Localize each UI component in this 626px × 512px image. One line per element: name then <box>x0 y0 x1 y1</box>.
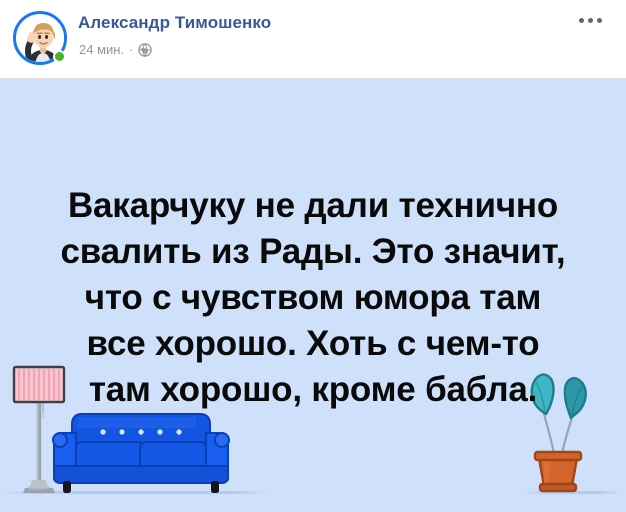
meme-text-line-1: Вакарчуку не дали технично <box>14 183 612 229</box>
post-options-menu-button[interactable] <box>575 14 606 27</box>
three-dots-icon-dot-1 <box>579 18 584 23</box>
meme-text-line-5: там хорошо, кроме бабла. <box>14 367 612 413</box>
meme-text-line-3: что с чувством юмора там <box>14 275 612 321</box>
three-dots-icon-dot-2 <box>588 18 593 23</box>
post-timestamp[interactable]: 24 мин. <box>79 42 124 57</box>
globe-icon[interactable] <box>138 43 152 57</box>
online-status-dot-icon <box>53 50 66 63</box>
sofa-icon <box>46 410 236 496</box>
meta-separator: · <box>129 43 133 56</box>
facebook-post-card: Александр Тимошенко 24 мин. · <box>0 0 626 512</box>
avatar[interactable] <box>13 11 67 65</box>
meme-text-line-2: свалить из Рады. Это значит, <box>14 229 612 275</box>
meme-text: Вакарчуку не дали технично свалить из Ра… <box>0 183 626 413</box>
meme-text-line-4: все хорошо. Хоть с чем-то <box>14 321 612 367</box>
post-header: Александр Тимошенко 24 мин. · <box>0 0 626 79</box>
post-meta: 24 мин. · <box>79 42 152 57</box>
post-author-name[interactable]: Александр Тимошенко <box>78 13 271 33</box>
post-image[interactable]: Вакарчуку не дали технично свалить из Ра… <box>0 79 626 512</box>
three-dots-icon-dot-3 <box>597 18 602 23</box>
